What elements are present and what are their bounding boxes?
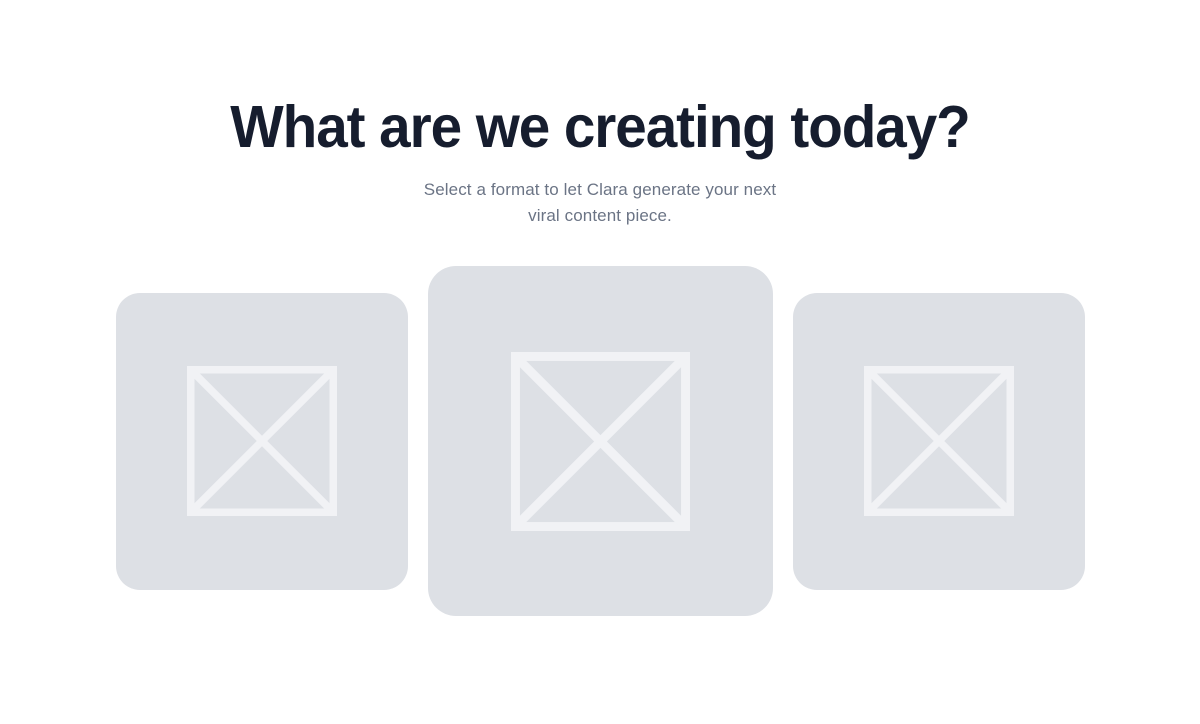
format-card-row <box>0 266 1200 616</box>
format-card-right-thumbnail <box>864 366 1014 516</box>
format-card-left-thumbnail <box>187 366 337 516</box>
format-card-left[interactable] <box>116 293 408 590</box>
broken-image-placeholder-icon <box>511 352 690 531</box>
format-card-center[interactable] <box>428 266 773 616</box>
broken-image-placeholder-icon <box>864 366 1014 516</box>
page-subtitle: Select a format to let Clara generate yo… <box>420 177 780 229</box>
format-card-center-thumbnail <box>511 352 690 531</box>
format-selection-screen: What are we creating today? Select a for… <box>0 0 1200 724</box>
page-title: What are we creating today? <box>24 92 1176 162</box>
format-card-right[interactable] <box>793 293 1085 590</box>
hero-header: What are we creating today? Select a for… <box>0 0 1200 229</box>
broken-image-placeholder-icon <box>187 366 337 516</box>
